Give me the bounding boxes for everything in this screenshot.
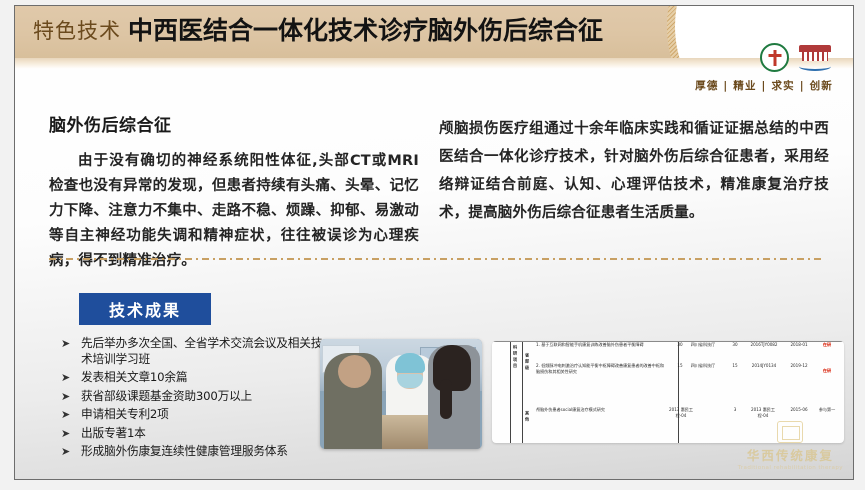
results-banner: 技术成果: [79, 293, 211, 325]
list-item: ➤ 先后举办多次全国、全省学术交流会议及相关技术培训学习班: [59, 336, 324, 367]
section-divider: [49, 258, 821, 260]
table-divider-3: [678, 341, 679, 443]
gate-base-shape: [799, 62, 831, 71]
results-banner-label: 技术成果: [109, 297, 181, 321]
list-item-label: 形成脑外伤康复连续性健康管理服务体系: [81, 444, 288, 458]
list-item-label: 获省部级课题基金资助300万以上: [81, 389, 252, 403]
hospital-slogan: 厚德 | 精业 | 求实 | 创新: [695, 78, 833, 93]
watermark-chinese-label: 华西传统康复: [738, 445, 843, 464]
clinic-consultation-photo: [320, 339, 482, 449]
bullet-arrow-icon: ➤: [61, 389, 70, 405]
left-column-paragraph: 由于没有确切的神经系统阳性体征,头部CT或MRI 检查也没有异常的发现，但患者持…: [49, 149, 419, 274]
status-badge: 在研: [818, 368, 836, 374]
list-item-label: 出版专著1本: [81, 426, 146, 440]
table-row: 四川省科技厅: [688, 363, 718, 369]
left-text-column: 脑外伤后综合征 由于没有确切的神经系统阳性体征,头部CT或MRI 检查也没有异常…: [49, 111, 419, 274]
slide-canvas: 特色技术 中西医结合一体化技术诊疗脑外伤后综合征 厚德 | 精业 | 求实 | …: [14, 5, 854, 480]
photo-companion-figure: [428, 345, 480, 449]
table-divider-1: [510, 341, 511, 443]
gate-pillars-shape: [802, 52, 828, 61]
table-row: 2013 惠民工程-04: [746, 407, 780, 419]
list-item: ➤ 发表相关文章10余篇: [59, 370, 324, 386]
photo-doctor-cap: [395, 353, 425, 373]
status-badge: 在研: [818, 342, 836, 348]
bullet-arrow-icon: ➤: [61, 370, 70, 386]
header-tag: 特色技术: [33, 17, 121, 45]
photo-doctor-mask: [397, 374, 423, 388]
table-row: 2016TJY0082: [748, 342, 780, 348]
list-item: ➤ 申请相关专利2项: [59, 407, 324, 423]
table-row: 2019-12: [784, 363, 814, 369]
table-row-label-other: 其他: [524, 411, 530, 427]
gate-roof-shape: [799, 45, 831, 52]
table-row: 2018-01: [784, 342, 814, 348]
slide-header: 特色技术 中西医结合一体化技术诊疗脑外伤后综合征: [15, 6, 854, 58]
list-item-label: 发表相关文章10余篇: [81, 370, 187, 384]
photo-companion-hair: [433, 345, 471, 391]
table-row: 四川省科技厅: [688, 342, 718, 348]
table-row: 30: [728, 342, 742, 348]
table-divider-2: [522, 341, 523, 443]
hospital-emblems: [760, 43, 831, 72]
page-title: 中西医结合一体化技术诊疗脑外伤后综合征: [128, 14, 603, 47]
table-row: 3: [728, 407, 742, 413]
list-item: ➤ 形成脑外伤康复连续性健康管理服务体系: [59, 444, 324, 460]
photo-companion-ponytail: [440, 379, 452, 419]
table-row: 2. 低频脉冲电刺激治疗认知能平衡中枢障碍改善康复患者的改善中枢和脑损伤和其相关…: [536, 363, 666, 375]
photo-patient-head: [338, 355, 371, 388]
table-row: 1. 基于互联网和智能手机康复训练改善脑外伤患者平衡障碍: [536, 342, 666, 348]
results-bullet-list: ➤ 先后举办多次全国、全省学术交流会议及相关技术培训学习班 ➤ 发表相关文章10…: [59, 336, 324, 463]
watermark-english-label: Traditional rehabilitation therapy: [738, 465, 843, 471]
photo-patient-figure: [324, 353, 382, 449]
list-item-label: 申请相关专利2项: [81, 407, 169, 421]
list-item: ➤ 获省部级课题基金资助300万以上: [59, 389, 324, 405]
table-row: 2014JY0134: [748, 363, 780, 369]
list-item-label: 先后举办多次全国、全省学术交流会议及相关技术培训学习班: [81, 336, 322, 366]
bullet-arrow-icon: ➤: [61, 407, 70, 423]
right-text-column: 颅脑损伤医疗组通过十余年临床实践和循证证据总结的中西医结合一体化诊疗技术，针对脑…: [439, 115, 829, 227]
table-row: 15: [728, 363, 742, 369]
table-row: 颅脑外伤患者social康复治疗模式研究: [536, 407, 666, 413]
list-item: ➤ 出版专著1本: [59, 426, 324, 442]
bullet-arrow-icon: ➤: [61, 444, 70, 460]
table-row-label-research: 科研项目: [512, 345, 518, 407]
hospital-green-emblem-icon: [760, 43, 789, 72]
bullet-arrow-icon: ➤: [61, 426, 70, 442]
brand-watermark: 华西传统康复 Traditional rehabilitation therap…: [738, 421, 843, 471]
table-row: 2013 惠民工程-04: [664, 407, 698, 419]
table-row: 参与第一: [816, 407, 838, 413]
bullet-arrow-icon: ➤: [61, 336, 70, 352]
watermark-seal-icon: [777, 421, 803, 443]
left-column-heading: 脑外伤后综合征: [49, 111, 419, 136]
header-accent-strip: [15, 58, 854, 69]
hospital-gate-emblem-icon: [799, 44, 831, 71]
right-column-paragraph: 颅脑损伤医疗组通过十余年临床实践和循证证据总结的中西医结合一体化诊疗技术，针对脑…: [439, 115, 829, 227]
table-row-label-provincial: 省部级: [524, 353, 530, 379]
table-row: 2015-06: [784, 407, 814, 413]
